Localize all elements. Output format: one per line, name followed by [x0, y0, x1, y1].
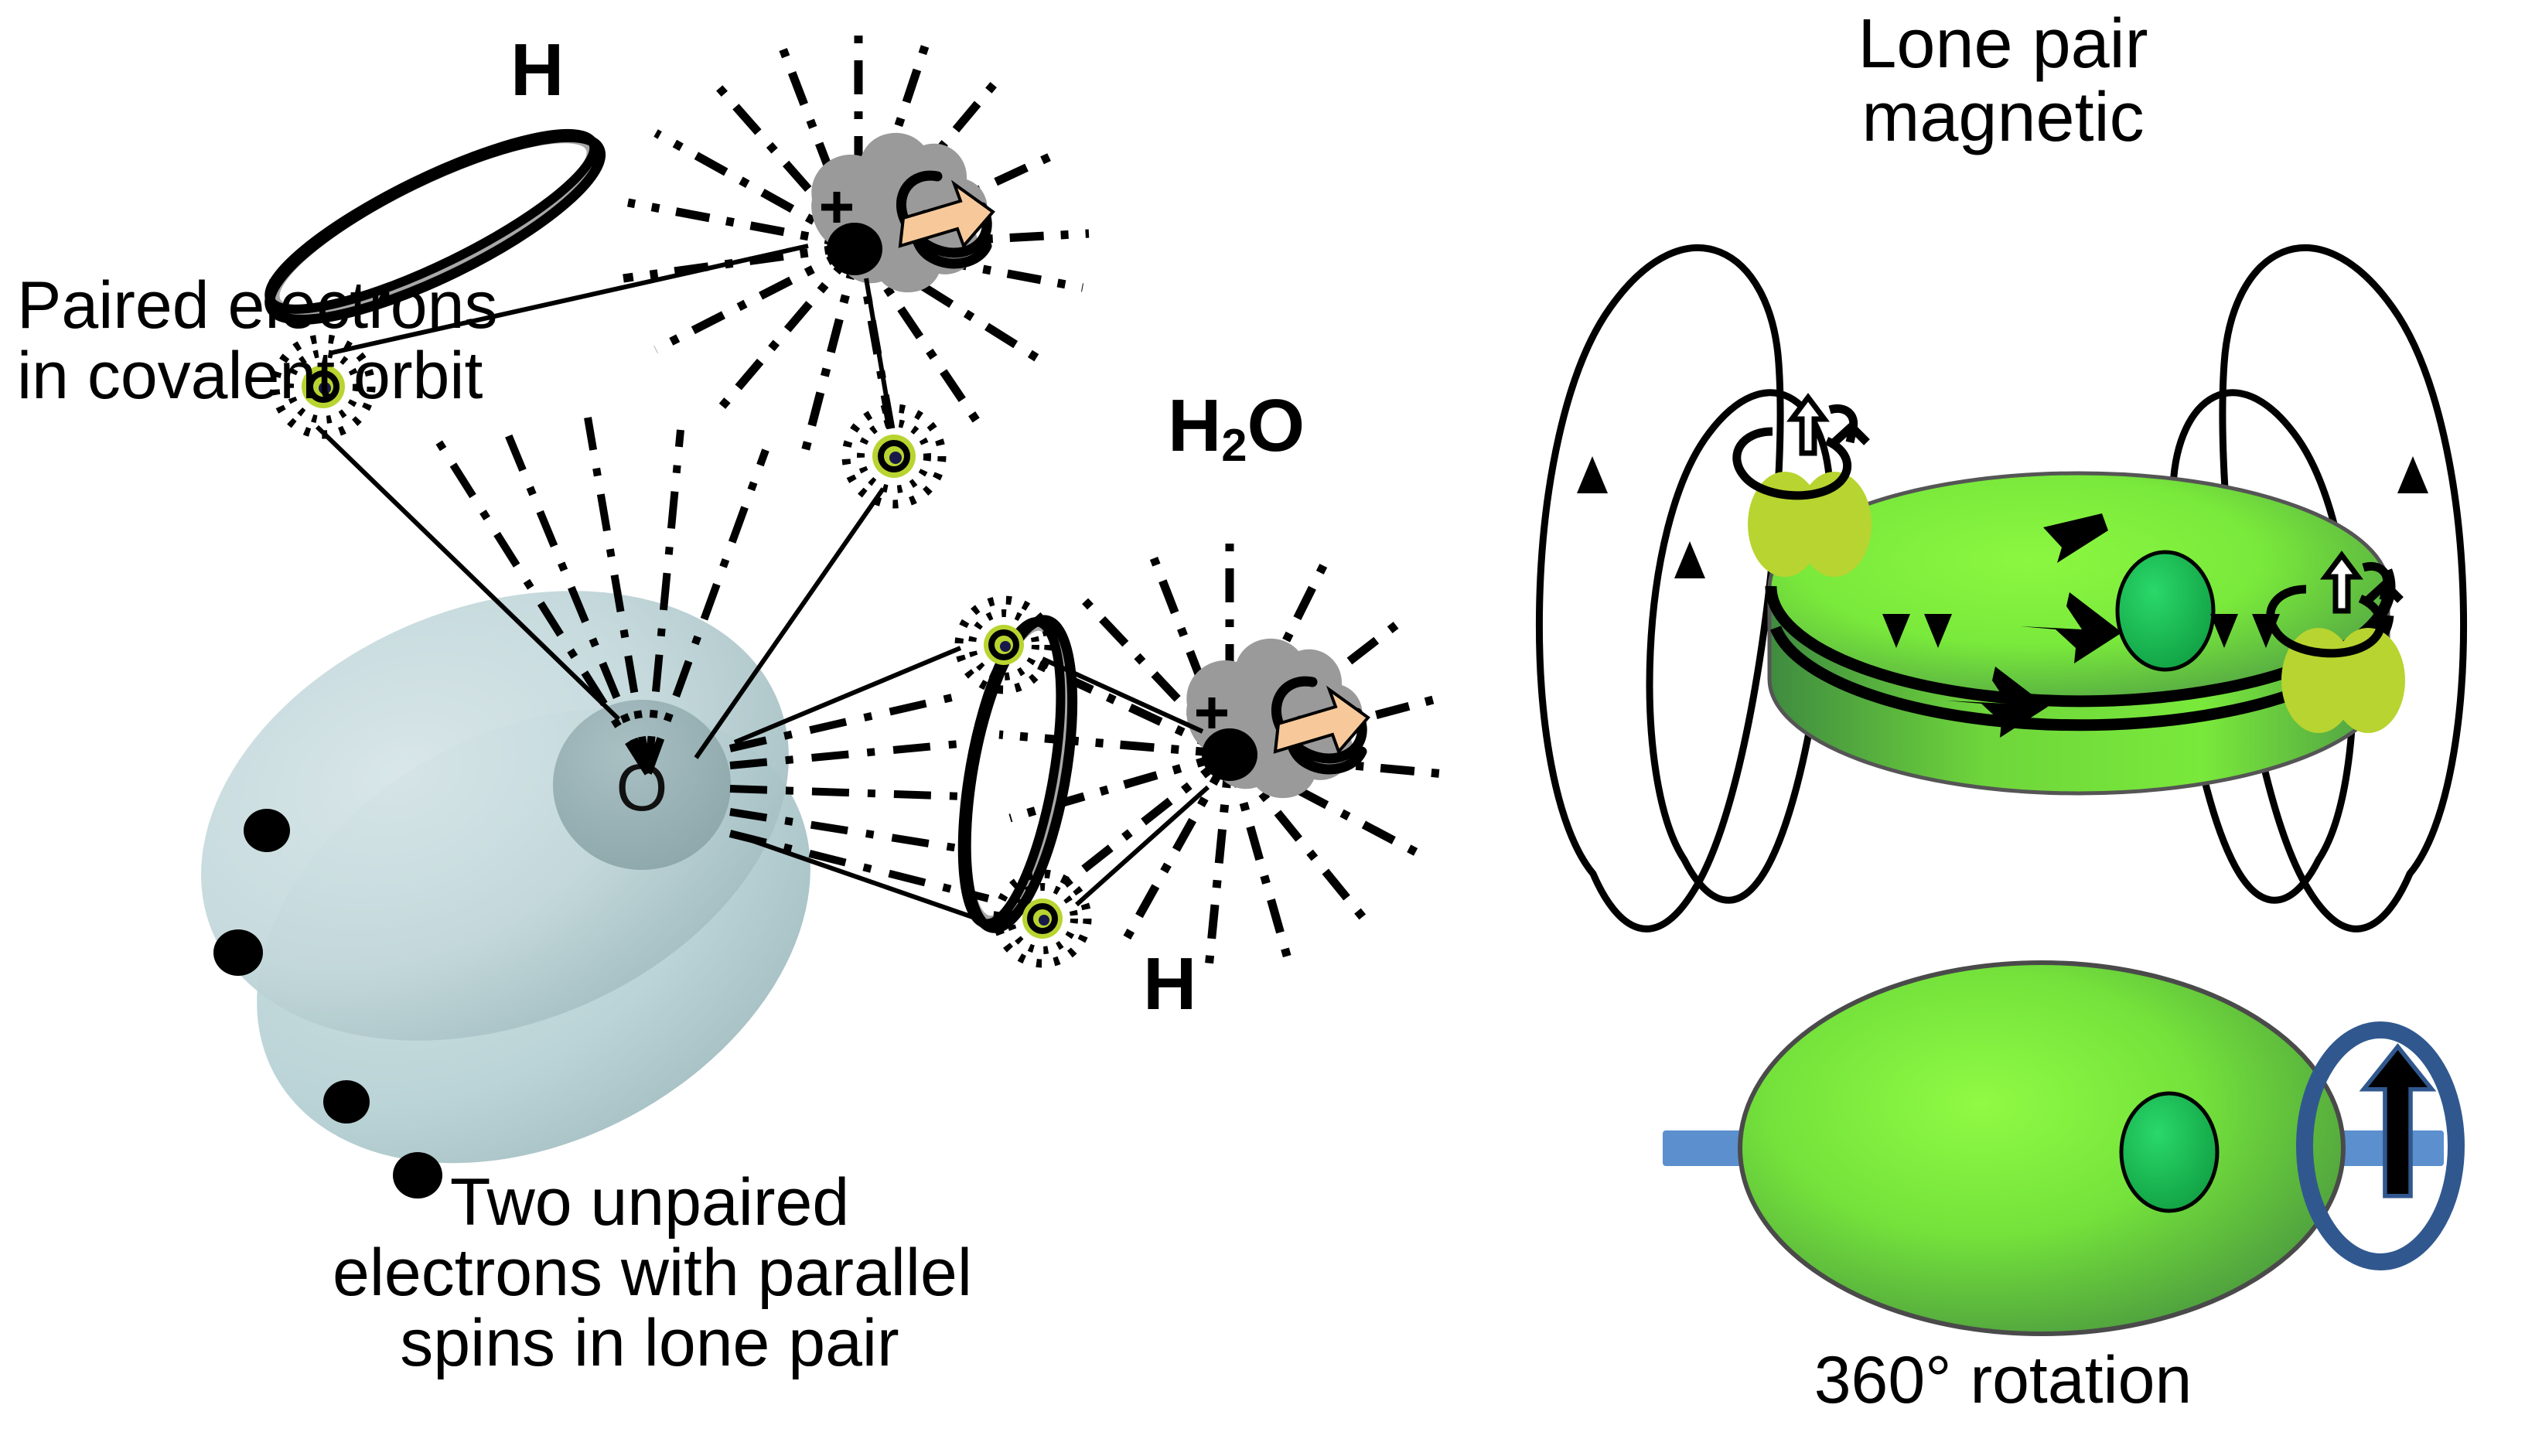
- lone-pair-magnetic-title: Lone pair magnetic: [1732, 8, 2274, 155]
- lone-pair-dot: [213, 929, 263, 976]
- two-unpaired-caption: Two unpaired electrons with parallel spi…: [333, 1168, 967, 1379]
- rotation-caption: 360° rotation: [1763, 1345, 2243, 1416]
- h2o-H: H: [1168, 384, 1221, 467]
- rotation-egg-nucleus: [2121, 1093, 2217, 1211]
- lone-pair-dot: [244, 809, 290, 852]
- h2o-subscript: 2: [1221, 419, 1247, 471]
- rotation-arrow-icon: [2363, 1047, 2431, 1196]
- field-loop-outer-left: [1539, 247, 1780, 929]
- top-proton-nucleus: [827, 223, 882, 275]
- lone-pair-dot: [323, 1080, 370, 1124]
- bottom-covalent-orbit-group: [943, 612, 1092, 936]
- paired-electrons-caption: Paired electrons in covalent orbit: [17, 271, 497, 411]
- figure-canvas: O: [0, 0, 2525, 1456]
- bottom-proton-nucleus: [1202, 728, 1257, 781]
- oxygen-atom-group: O: [134, 508, 889, 1255]
- bottom-proton-group: [1186, 639, 1368, 798]
- hydrogen-label-bottom: H: [1143, 945, 1196, 1024]
- disk-inner-nucleus: [2117, 552, 2213, 670]
- rotation-egg-body: [1740, 963, 2343, 1334]
- hydrogen-label-top: H: [510, 31, 564, 110]
- h2o-O: O: [1247, 384, 1305, 467]
- h2o-formula-label: H2O: [1168, 387, 1305, 469]
